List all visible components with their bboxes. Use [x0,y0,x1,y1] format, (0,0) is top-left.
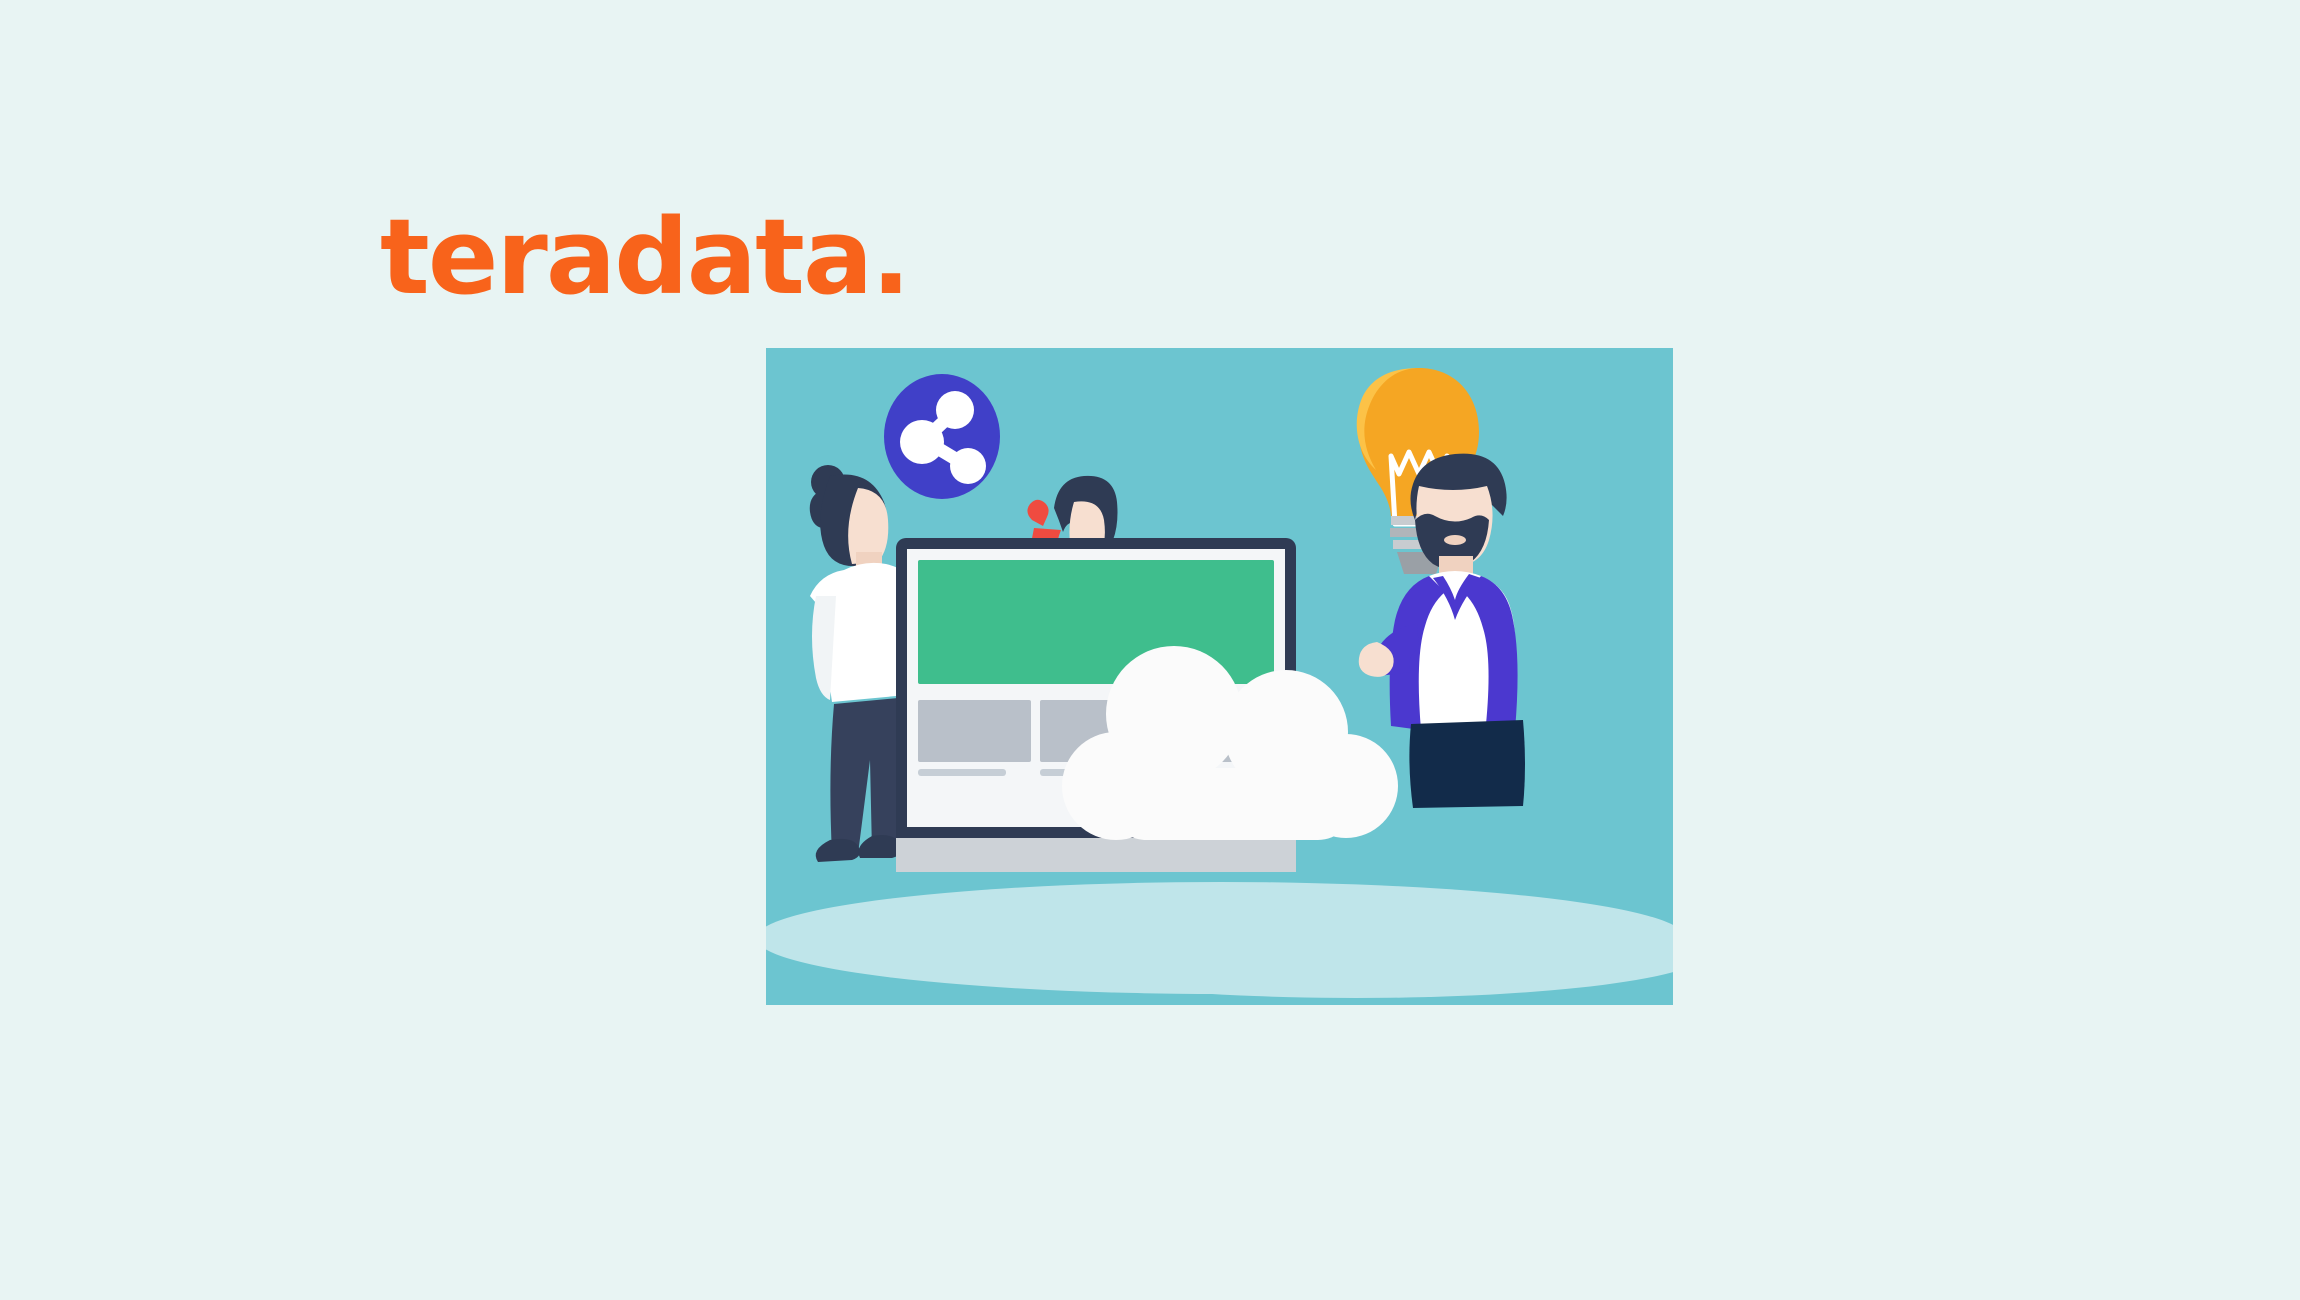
illustration-panel [766,348,1673,1005]
monitor-card[interactable] [918,700,1031,792]
cloud-glyph [1054,646,1404,871]
teradata-wordmark[interactable]: teradata. [380,205,909,309]
cloud-shape [1054,646,1404,866]
monitor-card-caption [918,769,1006,776]
ground-ellipse-secondary [1006,908,1673,998]
person-right-mouth [1444,535,1466,545]
person-right-pants [1409,720,1525,808]
person-middle-fist [1027,500,1048,526]
person-left-pants [830,698,901,854]
page-canvas: teradata. [0,0,2300,1300]
brand-name-text: teradata. [380,205,909,309]
person-left-shoe-left [816,839,860,862]
monitor-card-thumbnail [918,700,1031,762]
